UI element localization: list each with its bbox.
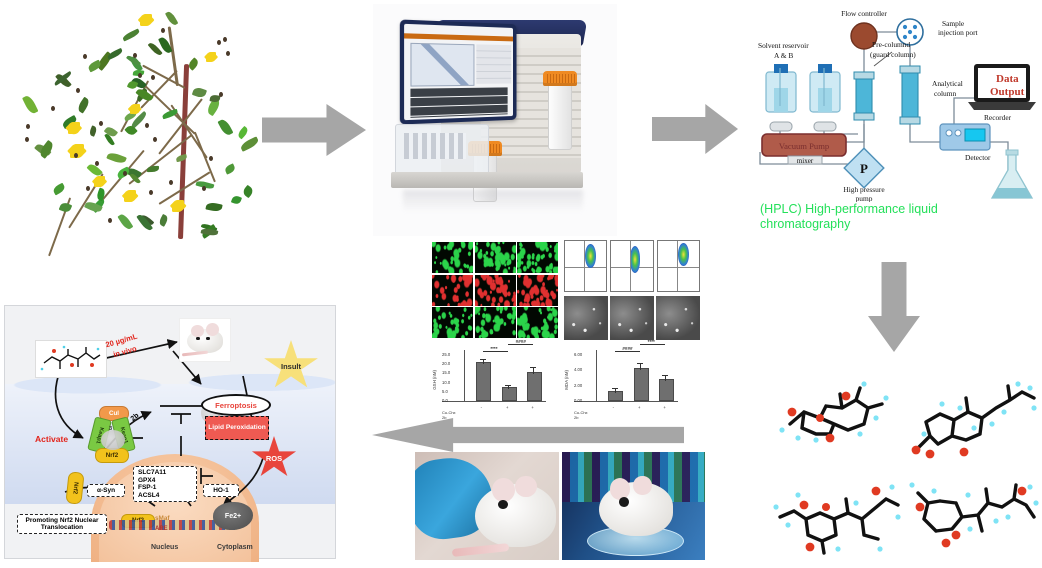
- label-sample-injection-port-2: injection port: [938, 28, 979, 37]
- plant-leaf: [76, 96, 91, 113]
- plant-bud: [95, 161, 99, 166]
- label-high-pressure-pump-1: High pressure: [843, 185, 885, 194]
- arrow-results-to-mechanism: [372, 418, 684, 452]
- photo-mouse-handling: [415, 452, 559, 560]
- significance-label: ####: [622, 346, 632, 351]
- error-cap: [480, 359, 486, 360]
- significance-bar: [508, 344, 533, 345]
- label-mixer: mixer: [797, 157, 814, 165]
- plant-bud: [108, 218, 112, 223]
- y-tick-label: 6.00: [574, 352, 582, 357]
- plant-flower: [94, 176, 105, 187]
- structure-3: [768, 473, 904, 568]
- plant-leaf: [23, 95, 39, 115]
- photo-mouse-on-dish: [562, 452, 706, 560]
- high-pressure-pump: P: [844, 148, 884, 188]
- hplc-schematic-svg: P Flow controller Sample injection port …: [746, 2, 1040, 202]
- plant-bud: [223, 37, 227, 42]
- plant-bud: [219, 92, 223, 97]
- flow-cytometry-plot: [657, 240, 700, 292]
- plant-leaf: [206, 202, 223, 213]
- plant-bud: [51, 106, 55, 111]
- plant-bud: [145, 123, 149, 128]
- plant-leaf: [87, 59, 102, 71]
- target-acsl4: ACSL4: [138, 492, 192, 500]
- activate-label: Activate: [35, 434, 68, 444]
- fluorescence-cell: [432, 242, 473, 273]
- plant-bud: [25, 137, 29, 142]
- plant-bud: [149, 190, 153, 195]
- flow-cytometry-plot: [610, 240, 653, 292]
- plant-leaf: [38, 140, 55, 159]
- label-data-output-2: Output: [990, 86, 1025, 98]
- error-cap: [612, 388, 618, 389]
- arrow-hplc-to-structures: [868, 262, 920, 352]
- plant-bud: [76, 88, 80, 93]
- plant-leaf: [192, 86, 207, 98]
- fraction-collection-flask: [992, 150, 1032, 198]
- bar: [502, 387, 517, 401]
- plant-bud: [83, 54, 87, 59]
- plant-leaf: [165, 10, 179, 27]
- compound-structure-thumbnail: [35, 340, 107, 378]
- fluorescence-cell: [517, 307, 558, 338]
- mouse-inset-photo: [179, 318, 231, 362]
- alpha-syn-tag: α-Syn: [87, 484, 125, 497]
- solvent-bottle-b: [810, 64, 840, 112]
- column-cartridge-upper: [548, 82, 572, 150]
- x-tick-label: -: [613, 405, 614, 410]
- error-bar: [508, 386, 509, 389]
- plant-flower: [68, 122, 80, 134]
- plant-bud: [99, 121, 103, 126]
- error-bar: [665, 376, 666, 381]
- fluorescence-cell: [432, 275, 473, 306]
- plant-leaf: [231, 195, 242, 205]
- hplc-caption: (HPLC) High-performance liquid chromatog…: [760, 202, 972, 232]
- bar-chart-mda: 0.002.004.006.00-++####****MDA (nM)Cu-Ch…: [574, 348, 678, 416]
- significance-label: ****: [490, 346, 497, 351]
- error-cap: [505, 385, 511, 386]
- plant-bud: [123, 171, 127, 176]
- fluorescence-cell: [517, 275, 558, 306]
- label-analytical-column-1: Analytical: [932, 79, 963, 88]
- plant-bud: [161, 28, 165, 33]
- error-cap: [662, 375, 668, 376]
- plant-bud: [202, 186, 206, 191]
- guard-column: [854, 72, 874, 120]
- animal-study-photos: [415, 452, 705, 560]
- plant-leaf: [106, 47, 123, 59]
- bar: [634, 368, 649, 401]
- label-vacuum-pump: Vacuum Pump: [779, 141, 829, 151]
- column-cap-icon: [543, 71, 577, 86]
- y-tick-label: 2.00: [574, 383, 582, 388]
- bar: [608, 391, 623, 401]
- tem-micrograph: [656, 296, 700, 340]
- plant-leaf: [121, 28, 140, 41]
- y-tick-label: 25.0: [442, 352, 450, 357]
- plant-bud: [226, 51, 230, 56]
- plant-bud: [217, 40, 221, 45]
- plant-bud: [74, 153, 78, 158]
- label-solvent-reservoir-1: Solvent reservoir: [758, 41, 809, 50]
- results-montage: 0.05.010.015.020.025.0-++****####GSH (nM…: [424, 238, 704, 416]
- structure-1: [768, 378, 904, 473]
- detector-unit: [940, 124, 990, 150]
- plant-leaf: [224, 164, 236, 175]
- plant-bud: [151, 75, 155, 80]
- fluorescence-cell: [517, 242, 558, 273]
- plant-leaf: [95, 188, 106, 201]
- y-axis-title: MDA (nM): [564, 370, 569, 390]
- x-tick-label: +: [638, 405, 640, 410]
- bar: [527, 372, 542, 401]
- arrow-plant-to-instrument: [262, 104, 366, 156]
- plant-leaf: [217, 117, 233, 136]
- group-label: 2b: [442, 415, 446, 420]
- y-tick-label: 0.0: [442, 398, 448, 403]
- plant-leaf: [89, 126, 98, 138]
- label-precolumn-2: (guard column): [870, 50, 916, 59]
- label-precolumn-1: Pre-columnd: [872, 40, 910, 49]
- y-axis: [596, 350, 597, 402]
- tem-micrograph: [564, 296, 608, 340]
- arrow-instrument-to-hplc: [652, 104, 738, 154]
- svg-text:P: P: [860, 161, 868, 176]
- structure-2: [904, 378, 1040, 473]
- error-bar: [533, 368, 534, 374]
- lipid-peroxidation-label: Lipid Peroxidation: [208, 424, 266, 432]
- plant-flower: [140, 14, 152, 26]
- target-fsp1: FSP-1: [138, 484, 192, 492]
- y-tick-label: 10.0: [442, 380, 450, 385]
- significance-label: ****: [648, 339, 655, 344]
- plant-leaf: [106, 151, 127, 166]
- x-axis: [442, 401, 546, 402]
- error-bar: [615, 389, 616, 392]
- plant-leaf: [176, 154, 189, 162]
- error-bar: [640, 364, 641, 370]
- x-tick-label: -: [481, 405, 482, 410]
- plant-flower: [124, 190, 136, 202]
- significance-bar: [640, 344, 665, 345]
- plant-leaf: [241, 185, 254, 198]
- translocation-box: Promoting Nrf2 Nuclear Translocation: [17, 514, 107, 534]
- plant-flower: [130, 104, 140, 114]
- structure-4: [904, 473, 1040, 568]
- lipid-peroxidation-node: Lipid Peroxidation: [205, 416, 269, 440]
- compound-structures-panel: [768, 378, 1040, 558]
- plant-leaf: [147, 166, 159, 172]
- instrument-reflection: [403, 190, 583, 212]
- plant-leaf: [52, 182, 66, 195]
- nrf2-ferroptosis-mechanism-diagram: 20 µg/mL in vivo Activate Cul Keap1 Keap…: [4, 305, 336, 559]
- plant-bud: [153, 137, 157, 142]
- error-cap: [530, 367, 536, 368]
- label-detector: Detector: [965, 153, 991, 162]
- error-bar: [483, 360, 484, 364]
- plant-bud: [209, 156, 213, 161]
- fraction-collector-tray: [395, 124, 489, 178]
- y-tick-label: 0.00: [574, 398, 582, 403]
- flow-cytometry-row: [564, 240, 700, 292]
- significance-label: ####: [516, 339, 526, 344]
- bar: [659, 379, 674, 401]
- x-axis: [574, 401, 678, 402]
- y-tick-label: 20.0: [442, 361, 450, 366]
- plant-bud: [138, 73, 142, 78]
- fluorescence-cell: [432, 307, 473, 338]
- fluorescence-cell: [475, 275, 516, 306]
- significance-bar: [483, 351, 508, 352]
- significance-bar: [615, 351, 640, 352]
- plant-bud: [169, 180, 173, 185]
- instrument-touchscreen: [400, 19, 517, 124]
- plant-leaf: [236, 126, 250, 140]
- label-recorder: Recorder: [984, 113, 1012, 122]
- nrf2-bound: Nrf2: [95, 448, 129, 463]
- target-genes-box: SLC7A11 GPX4 FSP-1 ACSL4: [133, 466, 197, 502]
- translocation-line1: Promoting Nrf2 Nuclear Translocation: [26, 517, 99, 532]
- plant-bud: [133, 53, 137, 58]
- x-tick-label: +: [506, 405, 508, 410]
- x-tick-label: +: [531, 405, 533, 410]
- solvent-bottle-a: [766, 64, 796, 112]
- ferroptosis-node: Ferroptosis: [201, 394, 271, 416]
- bar-chart-gsh: 0.05.010.015.020.025.0-++****####GSH (nM…: [442, 348, 546, 416]
- plant-flower: [206, 52, 216, 62]
- plant-leaf: [239, 136, 260, 151]
- target-gpx4: GPX4: [138, 477, 192, 485]
- plant-flower: [172, 200, 184, 212]
- target-slc7a11: SLC7A11: [138, 469, 192, 477]
- y-axis: [464, 350, 465, 402]
- y-tick-label: 4.00: [574, 367, 582, 372]
- plant-leaf: [118, 213, 134, 232]
- plant-bud: [26, 124, 30, 129]
- label-solvent-reservoir-2: A & B: [774, 51, 793, 60]
- instrument-base: [391, 172, 583, 188]
- cytoplasm-label: Cytoplasm: [217, 544, 253, 551]
- y-axis-title: GSH (nM): [432, 370, 437, 390]
- analytical-column: [900, 66, 920, 124]
- plant-bud: [86, 186, 90, 191]
- bar: [476, 362, 491, 401]
- plant-stem: [178, 64, 189, 239]
- label-high-pressure-pump-2: pump: [856, 194, 873, 202]
- plant-leaf: [158, 214, 169, 227]
- y-tick-label: 5.0: [442, 389, 448, 394]
- plant-source-photo: [8, 4, 258, 236]
- hplc-schematic-diagram: P Flow controller Sample injection port …: [746, 2, 1040, 246]
- are-label: ARE: [155, 526, 168, 532]
- tem-micrograph: [610, 296, 654, 340]
- plant-leaf: [59, 201, 73, 213]
- protein-aggregate-icon: [101, 430, 125, 450]
- y-tick-label: 15.0: [442, 370, 450, 375]
- preparative-chromatography-photo: [373, 4, 617, 236]
- fluorescence-cell: [475, 307, 516, 338]
- label-analytical-column-2: column: [934, 89, 956, 98]
- label-flow-controller: Flow controller: [841, 9, 887, 18]
- flow-cytometry-plot: [564, 240, 607, 292]
- error-cap: [637, 363, 643, 364]
- x-tick-label: +: [663, 405, 665, 410]
- label-data-output-1: Data: [996, 73, 1019, 85]
- tem-image-row: [564, 296, 700, 340]
- group-label: 2b: [574, 415, 578, 420]
- fluorescence-image-grid: [432, 242, 558, 338]
- ho1-tag: HO-1: [203, 484, 239, 497]
- nucleus-label: Nucleus: [151, 544, 178, 551]
- label-sample-injection-port-1: Sample: [942, 19, 965, 28]
- fluorescence-cell: [475, 242, 516, 273]
